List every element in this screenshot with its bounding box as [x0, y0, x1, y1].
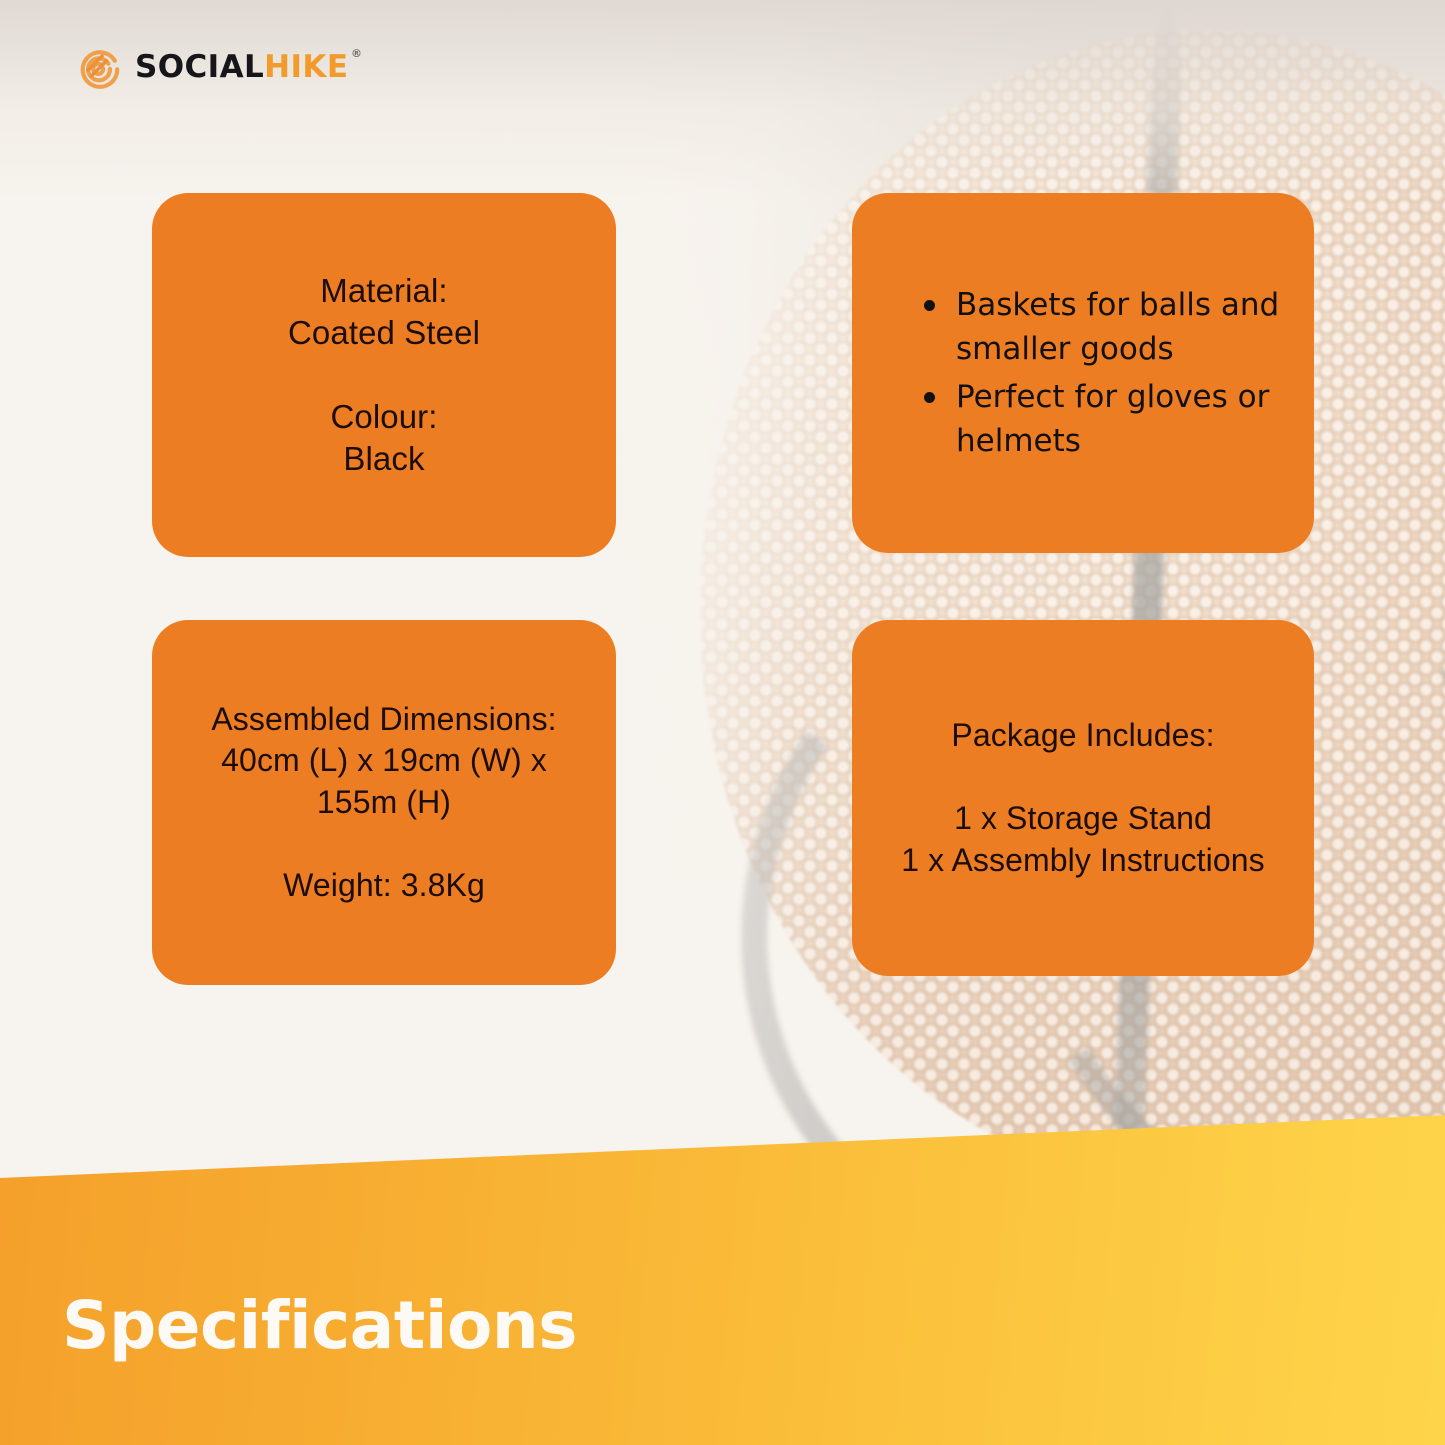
spec-card-package-includes: Package Includes: 1 x Storage Stand 1 x … — [852, 620, 1314, 976]
product-specifications-graphic: SOCIALHIKE® Material: Coated Steel Colou… — [0, 0, 1445, 1445]
brand-logo: SOCIALHIKE® — [76, 44, 348, 90]
socialhike-spiral-icon — [76, 44, 122, 90]
spec-card-dimensions-weight-text: Assembled Dimensions: 40cm (L) x 19cm (W… — [182, 699, 586, 907]
spec-card-features: Baskets for balls and smaller goods Perf… — [852, 193, 1314, 553]
registered-trademark-icon: ® — [351, 48, 362, 59]
page-title: Specifications — [62, 1293, 577, 1359]
spec-card-dimensions-weight: Assembled Dimensions: 40cm (L) x 19cm (W… — [152, 620, 616, 985]
background-top-fade — [0, 0, 1445, 200]
brand-name-secondary: HIKE — [264, 49, 348, 85]
list-item: Perfect for gloves or helmets — [922, 375, 1284, 463]
spec-card-material-colour-text: Material: Coated Steel Colour: Black — [288, 270, 480, 480]
brand-name-primary: SOCIAL — [135, 49, 264, 85]
feature-bullet-list: Baskets for balls and smaller goods Perf… — [882, 283, 1284, 463]
list-item: Baskets for balls and smaller goods — [922, 283, 1284, 371]
spec-card-material-colour: Material: Coated Steel Colour: Black — [152, 193, 616, 557]
brand-wordmark: SOCIALHIKE® — [135, 52, 348, 83]
spec-card-package-includes-text: Package Includes: 1 x Storage Stand 1 x … — [901, 715, 1265, 881]
